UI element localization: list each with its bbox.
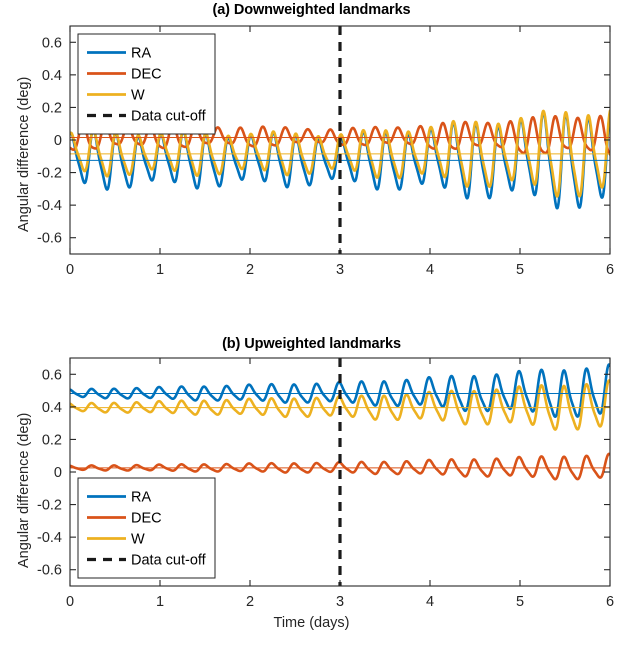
panel-b-plot: 0123456-0.6-0.4-0.200.20.40.6RADECWData … (0, 330, 623, 620)
panel-a-y-axis-label: Angular difference (deg) (16, 77, 32, 232)
x-tick-label: 2 (246, 594, 254, 610)
panel-a-plot: 0123456-0.6-0.4-0.200.20.40.6RADECWData … (0, 0, 623, 310)
y-tick-label: -0.2 (37, 166, 62, 182)
x-tick-label: 5 (516, 594, 524, 610)
x-tick-label: 6 (606, 262, 614, 278)
panel-b-title: (b) Upweighted landmarks (0, 336, 623, 352)
x-tick-label: 6 (606, 594, 614, 610)
x-tick-label: 0 (66, 594, 74, 610)
y-tick-label: 0.4 (42, 400, 62, 416)
legend-label-w: W (131, 532, 145, 548)
x-tick-label: 5 (516, 262, 524, 278)
panel-b-x-axis-label: Time (days) (0, 615, 623, 631)
y-tick-label: 0 (54, 133, 62, 149)
x-tick-label: 1 (156, 594, 164, 610)
figure-root: (a) Downweighted landmarks Angular diffe… (0, 0, 623, 646)
y-tick-label: 0.2 (42, 100, 62, 116)
y-tick-label: 0.6 (42, 367, 62, 383)
y-tick-label: 0.4 (42, 68, 62, 84)
panel-a-title: (a) Downweighted landmarks (0, 2, 623, 18)
legend-label-data-cut-off: Data cut-off (131, 553, 207, 569)
y-tick-label: -0.6 (37, 231, 62, 247)
y-tick-label: 0.6 (42, 35, 62, 51)
y-tick-label: -0.4 (37, 198, 62, 214)
chart-panel-a: (a) Downweighted landmarks Angular diffe… (0, 0, 623, 330)
legend-label-dec: DEC (131, 511, 162, 527)
x-tick-label: 2 (246, 262, 254, 278)
y-tick-label: -0.4 (37, 530, 62, 546)
y-tick-label: 0 (54, 465, 62, 481)
x-tick-label: 3 (336, 594, 344, 610)
x-tick-label: 1 (156, 262, 164, 278)
x-tick-label: 4 (426, 594, 434, 610)
x-tick-label: 4 (426, 262, 434, 278)
panel-b-y-axis-label: Angular difference (deg) (16, 413, 32, 568)
chart-panel-b: (b) Upweighted landmarks Angular differe… (0, 330, 623, 646)
legend-label-ra: RA (131, 46, 151, 62)
legend-label-ra: RA (131, 490, 151, 506)
y-tick-label: -0.2 (37, 498, 62, 514)
legend[interactable]: RADECWData cut-off (78, 34, 215, 134)
x-tick-label: 0 (66, 262, 74, 278)
x-tick-label: 3 (336, 262, 344, 278)
legend-label-w: W (131, 88, 145, 104)
legend[interactable]: RADECWData cut-off (78, 478, 215, 578)
legend-label-dec: DEC (131, 67, 162, 83)
y-tick-label: -0.6 (37, 563, 62, 579)
y-tick-label: 0.2 (42, 432, 62, 448)
legend-label-data-cut-off: Data cut-off (131, 109, 207, 125)
